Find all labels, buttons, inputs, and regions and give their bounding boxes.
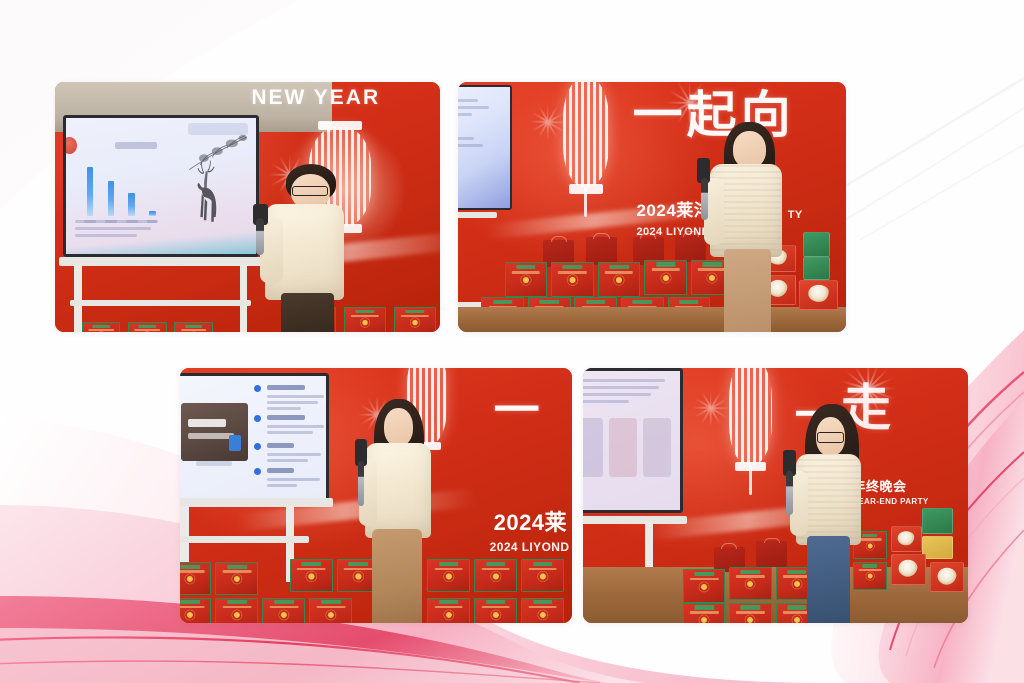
- screen-stand-top: [458, 212, 497, 218]
- slide-monitor-stand: [196, 461, 232, 466]
- ribbon-bottom-light: [0, 628, 600, 683]
- face: [733, 131, 766, 168]
- gift-box: [180, 598, 211, 624]
- gift-box: [128, 322, 167, 332]
- microphone-icon: [701, 178, 708, 220]
- gift-box: [82, 322, 121, 332]
- check-circle-icon: [254, 443, 261, 450]
- gift-box: [521, 598, 564, 624]
- photo-bottom-right-scene: 一 走 年终晚会 YEAR-END PARTY: [583, 368, 968, 623]
- firework-icon: [528, 102, 568, 142]
- gift-box: [551, 262, 594, 297]
- gift-box: [174, 322, 213, 332]
- speaker-person: [255, 167, 382, 332]
- gift-box-colored: [922, 536, 953, 559]
- gift-box: [598, 262, 641, 297]
- chart-bar: [149, 211, 156, 216]
- photo-top-left-scene: NEW YEAR: [55, 82, 440, 332]
- slide-title-block: [115, 142, 157, 149]
- glasses-icon: [817, 432, 844, 443]
- slide-mountain-decoration: [66, 232, 256, 254]
- chart-bar: [108, 181, 115, 216]
- presentation-screen: [63, 115, 259, 258]
- microphone-icon: [358, 461, 364, 506]
- microphone-icon: [786, 471, 792, 514]
- gift-box-colored: [930, 562, 965, 593]
- gift-box: [505, 262, 548, 297]
- photo-bottom-right[interactable]: 一 走 年终晚会 YEAR-END PARTY: [583, 368, 968, 623]
- lantern-icon: [563, 82, 610, 187]
- skirt: [372, 529, 423, 623]
- gift-box: [215, 598, 258, 624]
- gift-bag: [586, 237, 617, 265]
- photo-bottom-left-scene: 一 2024莱 2024 LIYOND: [180, 368, 572, 623]
- photo-top-right-scene: 一起向 2024莱沣 2024 LIYOND EL TY: [458, 82, 846, 332]
- jeans: [807, 536, 850, 623]
- gift-box: [215, 562, 258, 595]
- backdrop-headline-en: NEW YEAR: [251, 87, 380, 108]
- gift-box: [729, 603, 771, 623]
- slide-card: [643, 418, 671, 477]
- chart-bar: [128, 193, 135, 216]
- lantern-tassel: [749, 465, 752, 496]
- ribbon-bottom-lines: [0, 637, 600, 683]
- gift-box: [262, 598, 305, 624]
- slide-card: [609, 418, 637, 477]
- presentation-screen: [458, 85, 512, 210]
- banner-headline-en: 2024 LIYOND: [490, 541, 570, 554]
- gift-box: [644, 260, 687, 295]
- collage-stage: NEW YEAR: [0, 0, 1024, 683]
- screen-stand-leg: [240, 265, 248, 333]
- microphone-icon: [256, 218, 264, 255]
- speaker-person: [699, 125, 815, 333]
- slide-bullet-list: [180, 376, 326, 498]
- slide-monitor-mock: [181, 403, 247, 461]
- check-circle-icon: [254, 385, 261, 392]
- gift-box: [394, 307, 436, 332]
- gift-box: [474, 598, 517, 624]
- gift-box-colored: [891, 554, 926, 585]
- gift-box: [309, 598, 352, 624]
- gift-box: [290, 559, 333, 592]
- gift-box: [683, 569, 725, 602]
- presentation-screen: [180, 373, 329, 501]
- trousers: [724, 249, 771, 332]
- gift-box-colored: [891, 526, 922, 552]
- presentation-screen: [583, 368, 683, 513]
- glasses-icon: [292, 186, 328, 196]
- trousers: [281, 293, 334, 332]
- screen-stand-top: [59, 257, 263, 266]
- screen-stand-shelf: [180, 536, 309, 542]
- chart-bar: [87, 167, 94, 216]
- slide-gradient-arcs: [458, 87, 510, 208]
- slide-bar-chart: [66, 118, 256, 255]
- slide-bar-group: [81, 153, 176, 216]
- gift-box: [729, 567, 771, 600]
- slide-text-cards: [583, 371, 680, 510]
- lantern-icon: [729, 368, 771, 465]
- screen-stand-top: [180, 498, 333, 507]
- gift-box: [180, 562, 211, 595]
- photo-bottom-left[interactable]: 一 2024莱 2024 LIYOND: [180, 368, 572, 623]
- slide-monitor-accent: [229, 435, 241, 450]
- gift-box-colored: [922, 508, 953, 534]
- gift-box: [683, 603, 725, 623]
- face: [384, 408, 413, 446]
- speaker-person: [352, 399, 458, 623]
- slide-brand-subtitle: [188, 433, 234, 439]
- screen-stand-top: [583, 516, 687, 524]
- screen-stand-shelf: [70, 300, 251, 306]
- photo-top-left[interactable]: NEW YEAR: [55, 82, 440, 332]
- gift-box: [474, 559, 517, 592]
- slide-brand-logo: [188, 419, 226, 427]
- banner-headline-cn: 2024莱: [494, 511, 567, 535]
- firework-icon: [691, 388, 731, 428]
- slide-red-circle: [63, 137, 77, 155]
- screen-stand-leg: [74, 265, 82, 333]
- slide-card: [583, 418, 603, 477]
- check-circle-icon: [254, 468, 261, 475]
- photo-top-right[interactable]: 一起向 2024莱沣 2024 LIYOND EL TY: [458, 82, 846, 332]
- check-circle-icon: [254, 415, 261, 422]
- speaker-person: [783, 406, 891, 623]
- pine-branch-illustration: [188, 131, 249, 177]
- gift-box: [521, 559, 564, 592]
- backdrop-calligraphy: 一: [494, 388, 540, 434]
